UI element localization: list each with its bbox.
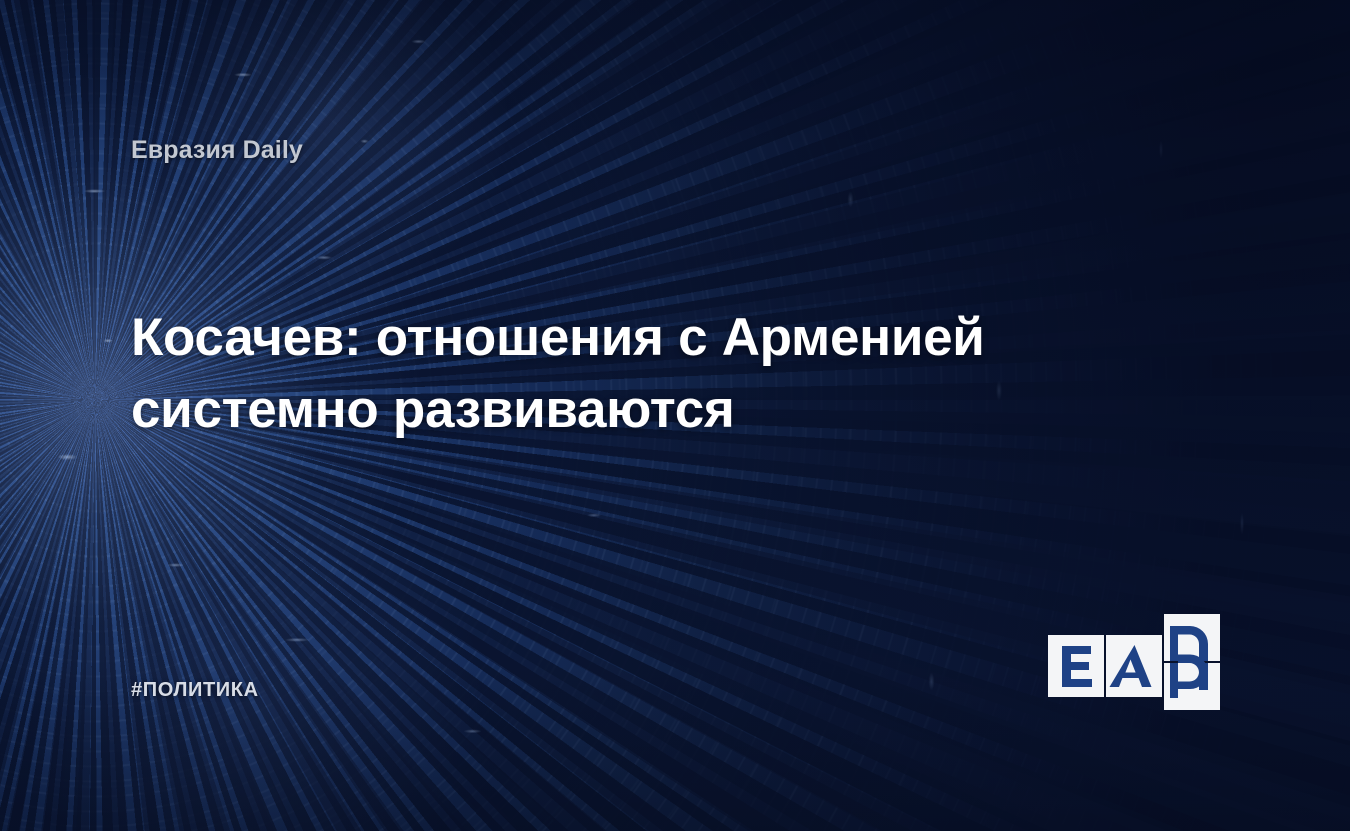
headline-text: Косачев: отношения с Арменией системно р… [131,302,1051,446]
logo-letter-e [1062,646,1092,687]
brand-name: Евразия Daily [131,136,303,165]
news-share-card: Евразия Daily Косачев: отношения с Армен… [0,0,1350,831]
eadaily-logo [1046,612,1228,712]
category-tag: #ПОЛИТИКА [131,679,259,702]
eadaily-logo-svg [1046,612,1228,712]
